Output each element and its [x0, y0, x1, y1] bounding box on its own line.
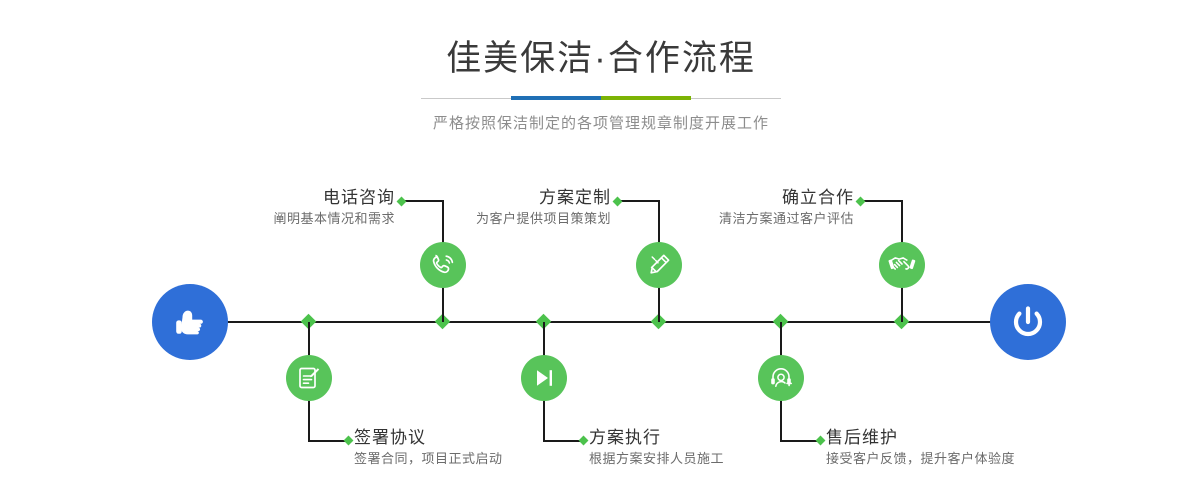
step-title: 确立合作 [614, 187, 854, 209]
step-label-4: 方案执行 根据方案安排人员施工 [589, 427, 849, 469]
step-icon-5[interactable] [879, 242, 925, 288]
flow-infographic: 佳美保洁·合作流程 严格按照保洁制定的各项管理规章制度开展工作 [0, 0, 1202, 502]
play-skip-icon [531, 365, 557, 391]
phone-ringing-icon [429, 251, 457, 279]
connector-stub [780, 440, 820, 442]
step-icon-1[interactable] [420, 242, 466, 288]
label-marker [856, 197, 866, 207]
step-subtitle: 根据方案安排人员施工 [589, 449, 849, 469]
connector-stub [308, 440, 348, 442]
label-marker [344, 436, 354, 446]
step-label-3: 方案定制 为客户提供项目策策划 [371, 187, 611, 229]
process-flow: 电话咨询 阐明基本情况和需求 签署协议 签署合同，项目正式启动 [0, 0, 1202, 502]
step-label-6: 售后维护 接受客户反馈，提升客户体验度 [826, 427, 1106, 469]
connector-stub [863, 200, 903, 202]
step-title: 方案定制 [371, 187, 611, 209]
handshake-icon [888, 251, 916, 279]
step-label-5: 确立合作 清洁方案通过客户评估 [614, 187, 854, 229]
pencil-ruler-icon [646, 252, 672, 278]
step-label-2: 签署协议 签署合同，项目正式启动 [354, 427, 614, 469]
step-icon-3[interactable] [636, 242, 682, 288]
document-edit-icon [296, 365, 322, 391]
step-title: 方案执行 [589, 427, 849, 449]
step-subtitle: 清洁方案通过客户评估 [614, 209, 854, 229]
power-icon [1006, 300, 1050, 344]
step-icon-4[interactable] [521, 355, 567, 401]
connector-stub [543, 440, 583, 442]
step-title: 签署协议 [354, 427, 614, 449]
step-subtitle: 签署合同，项目正式启动 [354, 449, 614, 469]
step-subtitle: 阐明基本情况和需求 [155, 209, 395, 229]
step-icon-6[interactable] [758, 355, 804, 401]
step-label-1: 电话咨询 阐明基本情况和需求 [155, 187, 395, 229]
step-icon-2[interactable] [286, 355, 332, 401]
flow-start-marker [152, 284, 228, 360]
pointing-hand-icon [169, 301, 211, 343]
step-subtitle: 接受客户反馈，提升客户体验度 [826, 449, 1106, 469]
step-subtitle: 为客户提供项目策策划 [371, 209, 611, 229]
step-title: 售后维护 [826, 427, 1106, 449]
headset-add-icon [768, 365, 794, 391]
step-title: 电话咨询 [155, 187, 395, 209]
flow-end-marker [990, 284, 1066, 360]
